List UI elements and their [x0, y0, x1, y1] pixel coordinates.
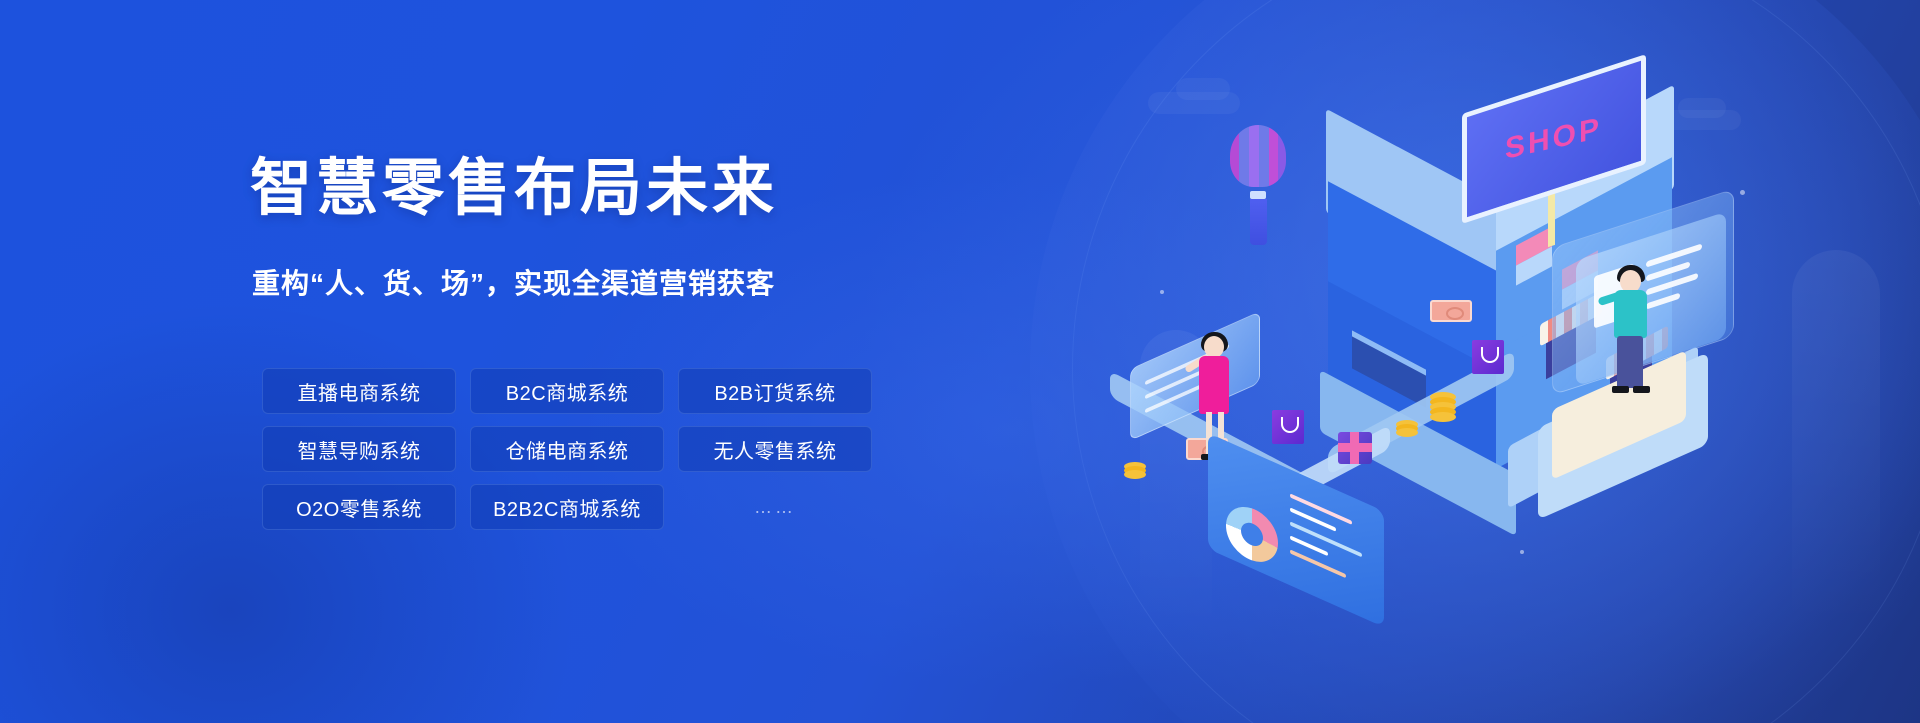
tag-more-ellipsis: …… [678, 484, 872, 530]
tag-b2c-mall[interactable]: B2C商城系统 [470, 368, 664, 414]
retail-isometric-illustration: SHOP [1100, 40, 1860, 660]
shopping-bag-icon [1472, 340, 1504, 374]
coin-stack-icon [1430, 412, 1456, 422]
tag-smart-guide[interactable]: 智慧导购系统 [262, 426, 456, 472]
sparkle-dot [1740, 190, 1745, 195]
tag-o2o-retail[interactable]: O2O零售系统 [262, 484, 456, 530]
sparkle-dot [1160, 290, 1164, 294]
hero-banner: 智慧零售布局未来 重构“人、货、场”，实现全渠道营销获客 直播电商系统 B2C商… [0, 0, 1920, 723]
product-tag-grid: 直播电商系统 B2C商城系统 B2B订货系统 智慧导购系统 仓储电商系统 无人零… [262, 368, 872, 530]
tag-unmanned-retail[interactable]: 无人零售系统 [678, 426, 872, 472]
shop-sign-text: SHOP [1505, 111, 1602, 166]
tag-b2b-ordering[interactable]: B2B订货系统 [678, 368, 872, 414]
gift-box-icon [1338, 432, 1372, 464]
hero-text-column: 智慧零售布局未来 重构“人、货、场”，实现全渠道营销获客 直播电商系统 B2C商… [0, 0, 900, 723]
tag-live-ecommerce[interactable]: 直播电商系统 [262, 368, 456, 414]
page-title: 智慧零售布局未来 [250, 158, 778, 220]
donut-chart-icon [1226, 500, 1278, 570]
shopping-bag-icon [1272, 410, 1304, 444]
tag-warehouse-ecommerce[interactable]: 仓储电商系统 [470, 426, 664, 472]
cash-bundle-icon [1430, 300, 1472, 322]
sparkle-dot [1520, 550, 1524, 554]
coin-stack-icon [1124, 470, 1146, 479]
page-subtitle: 重构“人、货、场”，实现全渠道营销获客 [252, 270, 775, 298]
coin-stack-icon [1396, 428, 1418, 437]
tag-b2b2c-mall[interactable]: B2B2C商城系统 [470, 484, 664, 530]
hot-air-balloon-icon [1230, 125, 1286, 235]
